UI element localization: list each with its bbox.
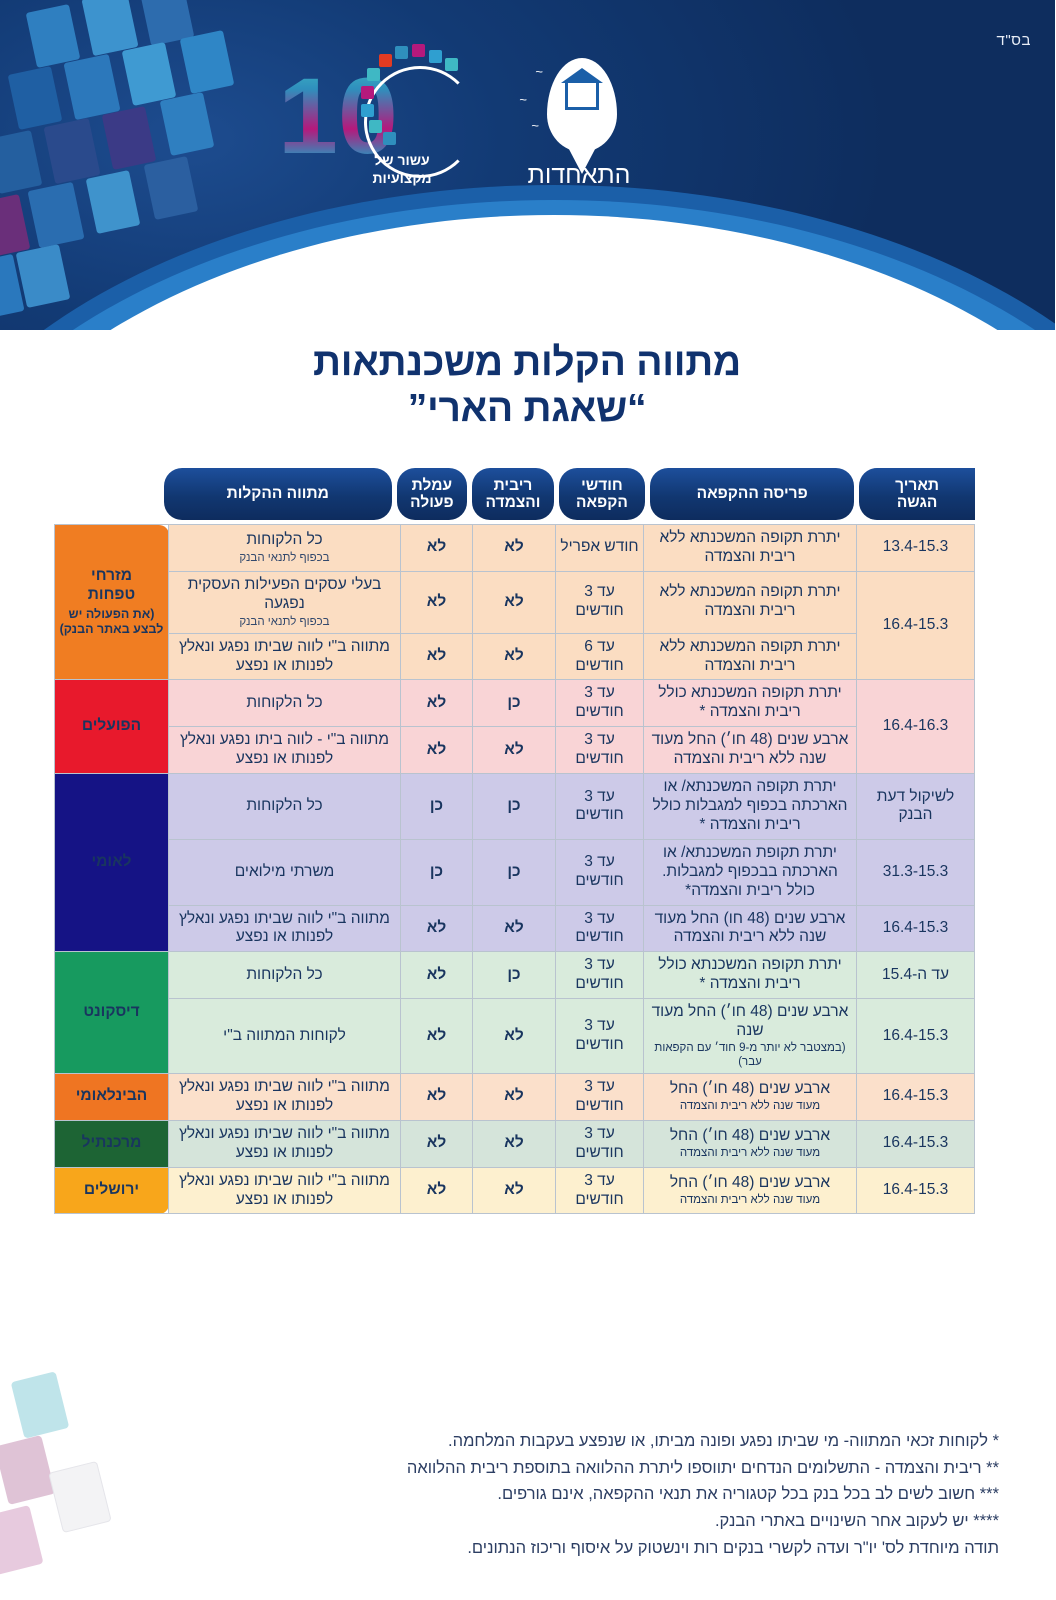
cell-fee: לא (402, 727, 474, 774)
table-header-row: תאריך הגשה פריסה ההקפאה חודשי הקפאה ריבי… (56, 468, 976, 520)
table-row: 16.4-15.3ארבע שנים (48 חו) החל מעוד שנה … (56, 905, 976, 952)
cell-interest: לא (474, 633, 557, 680)
header-fee: עמלת פעולה (398, 468, 469, 520)
table-row: 16.4-16.3יתרת תקופה המשכנתא כולל ריבית ו… (56, 680, 976, 727)
cell-interest: כן (474, 774, 557, 840)
cell-bank-leumi: לאומי (56, 774, 170, 952)
cell-interest: לא (474, 1073, 557, 1120)
cell-date: 16.4-16.3 (858, 680, 976, 774)
cell-fee: לא (402, 1073, 474, 1120)
table-row: 16.4-15.3יתרת תקופה המשכנתא ללא ריבית וה… (56, 571, 976, 633)
cell-interest: לא (474, 999, 557, 1074)
cell-months: עד 3 חודשים (557, 774, 645, 840)
cell-scope: לקוחות המתווה ב"י (170, 999, 402, 1074)
table-body: 13.4-15.3יתרת תקופה המשכנתא ללא ריבית וה… (55, 524, 976, 1214)
bird-icon-2: ~ (520, 92, 528, 107)
cell-interest: לא (474, 905, 557, 952)
cell-date: 16.4-15.3 (858, 1073, 976, 1120)
cell-spread: יתרת תקופת המשכנתא/ או הארכתה בבכפוף למג… (645, 839, 858, 905)
table-row: 16.4-15.3ארבע שנים (48 חו׳) החל מעוד שנה… (56, 999, 976, 1074)
cell-fee: לא (402, 905, 474, 952)
header-fee-l2: פעולה (411, 494, 454, 511)
relief-table: תאריך הגשה פריסה ההקפאה חודשי הקפאה ריבי… (56, 468, 976, 1214)
cell-bank-merkantil: מרכנתיל (56, 1120, 170, 1167)
logo-caption: עשור של מקצועיות (343, 152, 463, 187)
cell-scope-sub: בכפוף לתנאי הבנק (173, 615, 398, 629)
cell-spread-sub: מעוד שנה ללא ריבית והצמדה (648, 1146, 854, 1160)
cell-spread-sub: (במצטבר לא יותר מ-9 חוד׳ עם הקפאות עבר) (648, 1041, 854, 1069)
header-interest-l2: והצמדה (487, 494, 542, 511)
cell-date: 13.4-15.3 (858, 525, 976, 572)
cell-date: 31.3-15.3 (858, 839, 976, 905)
cell-spread: ארבע שנים (48 חו׳) החל מעוד שנה ללא ריבי… (645, 727, 858, 774)
cell-scope: מתווה ב"י לווה שביתו נפגע ונאלץ לפנותו א… (170, 1073, 402, 1120)
cell-date: 16.4-15.3 (858, 571, 976, 680)
header-interest-l1: ריבית (495, 477, 534, 494)
logo-caption-line2: מקצועיות (343, 170, 463, 188)
table-row: 13.4-15.3יתרת תקופה המשכנתא ללא ריבית וה… (56, 525, 976, 572)
table-row: 16.4-15.3ארבע שנים (48 חו׳) החלמעוד שנה … (56, 1073, 976, 1120)
header-date-l2: הגשה (898, 494, 939, 511)
cell-spread: ארבע שנים (48 חו׳) החלמעוד שנה ללא ריבית… (645, 1073, 858, 1120)
cell-fee: לא (402, 999, 474, 1074)
header-bank-spacer (56, 468, 160, 520)
cell-spread: יתרת תקופה המשכנתא כולל ריבית והצמדה * (645, 680, 858, 727)
header-months: חודשי הקפאה (560, 468, 646, 520)
cell-fee: לא (402, 525, 474, 572)
cell-interest: כן (474, 680, 557, 727)
header-spread: פריסה ההקפאה (651, 468, 855, 520)
cell-interest: לא (474, 1167, 557, 1214)
cell-scope: משרתי מילואים (170, 839, 402, 905)
cell-spread: יתרת תקופה המשכנתא כולל ריבית והצמדה * (645, 952, 858, 999)
cell-date: עד ה-15.4 (858, 952, 976, 999)
cell-months: עד 3 חודשים (557, 571, 645, 633)
cell-scope: כל הלקוחות (170, 680, 402, 727)
cell-interest: כן (474, 952, 557, 999)
header-interest: ריבית והצמדה (473, 468, 555, 520)
cell-spread: ארבע שנים (48 חו׳) החל מעוד שנה(במצטבר ל… (645, 999, 858, 1074)
table-row: 16.4-15.3ארבע שנים (48 חו׳) החלמעוד שנה … (56, 1120, 976, 1167)
cell-interest: לא (474, 1120, 557, 1167)
header-date: תאריך הגשה (860, 468, 976, 520)
logo-caption-line1: עשור של (343, 152, 463, 170)
cell-scope: מתווה ב"י לווה שביתו נפגע ונאלץ לפנותו א… (170, 1167, 402, 1214)
cell-interest: לא (474, 571, 557, 633)
cell-date: 16.4-15.3 (858, 999, 976, 1074)
header-months-l2: הקפאה (577, 494, 629, 511)
cell-scope: מתווה ב"י - לווה ביתו נפגע ונאלץ לפנותו … (170, 727, 402, 774)
page-title-line1: מתווה הקלות משכנתאות (0, 340, 1056, 386)
bsd-label: בס"ד (998, 32, 1032, 49)
header-scope: מתווה ההקלות (165, 468, 393, 520)
cell-bank-discount: דיסקונט (56, 952, 170, 1074)
cell-interest: לא (474, 727, 557, 774)
cell-months: עד 3 חודשים (557, 999, 645, 1074)
bird-icon-3: ~ (532, 118, 540, 133)
cell-date: לשיקול דעת הבנק (858, 774, 976, 840)
table-row: לשיקול דעת הבנקיתרת תקופה המשכנתא/ או הא… (56, 774, 976, 840)
header-fee-l1: עמלת (413, 477, 453, 494)
cell-date: 16.4-15.3 (858, 905, 976, 952)
page-title: מתווה הקלות משכנתאות “שאגת הארי” (0, 340, 1056, 432)
cell-spread: ארבע שנים (48 חו׳) החלמעוד שנה ללא ריבית… (645, 1120, 858, 1167)
cell-scope: כל הלקוחותבכפוף לתנאי הבנק (170, 525, 402, 572)
cell-months: עד 3 חודשים (557, 1073, 645, 1120)
cell-bank-note: (את הפעולה יש לבצע באתר הבנק) (59, 607, 166, 637)
cell-date: 16.4-15.3 (858, 1120, 976, 1167)
table-row: 16.4-15.3ארבע שנים (48 חו׳) החלמעוד שנה … (56, 1167, 976, 1214)
cell-spread: יתרת תקופה המשכנתא/ או הארכתה בכפוף למגב… (645, 774, 858, 840)
cell-months: עד 6 חודשים (557, 633, 645, 680)
cell-scope: כל הלקוחות (170, 952, 402, 999)
cell-months: עד 3 חודשים (557, 1167, 645, 1214)
house-icon (566, 80, 600, 110)
table-row: יתרת תקופה המשכנתא ללא ריבית והצמדהעד 6 … (56, 633, 976, 680)
header-months-l1: חודשי (582, 477, 624, 494)
table-row: 31.3-15.3יתרת תקופת המשכנתא/ או הארכתה ב… (56, 839, 976, 905)
cell-scope-sub: בכפוף לתנאי הבנק (173, 551, 398, 565)
decorative-shapes-bottom (0, 1370, 230, 1600)
table-row: ארבע שנים (48 חו׳) החל מעוד שנה ללא ריבי… (56, 727, 976, 774)
table-row: עד ה-15.4יתרת תקופה המשכנתא כולל ריבית ו… (56, 952, 976, 999)
cell-bank-mizrachi: מזרחיטפחות(את הפעולה יש לבצע באתר הבנק) (56, 525, 170, 680)
cell-months: עד 3 חודשים (557, 1120, 645, 1167)
cell-months: עד 3 חודשים (557, 727, 645, 774)
cell-date: 16.4-15.3 (858, 1167, 976, 1214)
cell-fee: כן (402, 774, 474, 840)
cell-months: חודש אפריל (557, 525, 645, 572)
cell-months: עד 3 חודשים (557, 905, 645, 952)
cell-fee: לא (402, 1167, 474, 1214)
bird-icon-1: ~ (536, 64, 544, 79)
cell-spread: יתרת תקופה המשכנתא ללא ריבית והצמדה (645, 525, 858, 572)
cell-spread: יתרת תקופה המשכנתא ללא ריבית והצמדה (645, 633, 858, 680)
cell-spread: יתרת תקופה המשכנתא ללא ריבית והצמדה (645, 571, 858, 633)
page-title-line2: “שאגת הארי” (0, 386, 1056, 432)
header-date-l1: תאריך (896, 477, 940, 494)
cell-scope: מתווה ב"י לווה שביתו נפגע ונאלץ לפנותו א… (170, 1120, 402, 1167)
cell-fee: לא (402, 952, 474, 999)
cell-bank-hapoalim: הפועלים (56, 680, 170, 774)
cell-spread-sub: מעוד שנה ללא ריבית והצמדה (648, 1099, 854, 1113)
cell-scope: מתווה ב"י לווה שביתו נפגע ונאלץ לפנותו א… (170, 905, 402, 952)
cell-fee: לא (402, 1120, 474, 1167)
cell-bank-jerusalem: ירושלים (56, 1167, 170, 1214)
cell-fee: לא (402, 571, 474, 633)
cell-spread: ארבע שנים (48 חו) החל מעוד שנה ללא ריבית… (645, 905, 858, 952)
cell-months: עד 3 חודשים (557, 952, 645, 999)
cell-months: עד 3 חודשים (557, 839, 645, 905)
cell-interest: לא (474, 525, 557, 572)
cell-spread-sub: מעוד שנה ללא ריבית והצמדה (648, 1193, 854, 1207)
cell-scope: בעלי עסקים הפעילות העסקית נפגעהבכפוף לתנ… (170, 571, 402, 633)
cell-interest: כן (474, 839, 557, 905)
cell-scope: מתווה ב"י לווה שביתו נפגע ונאלץ לפנותו א… (170, 633, 402, 680)
cell-fee: כן (402, 839, 474, 905)
cell-scope: כל הלקוחות (170, 774, 402, 840)
cell-spread: ארבע שנים (48 חו׳) החלמעוד שנה ללא ריבית… (645, 1167, 858, 1214)
cell-fee: לא (402, 633, 474, 680)
cell-fee: לא (402, 680, 474, 727)
cell-months: עד 3 חודשים (557, 680, 645, 727)
header-banner: 10 עשור של מקצועיות ~ ~ ~ התאחדות יועצי … (0, 0, 1056, 330)
cell-bank-beinleumi: הבינלאומי (56, 1073, 170, 1120)
